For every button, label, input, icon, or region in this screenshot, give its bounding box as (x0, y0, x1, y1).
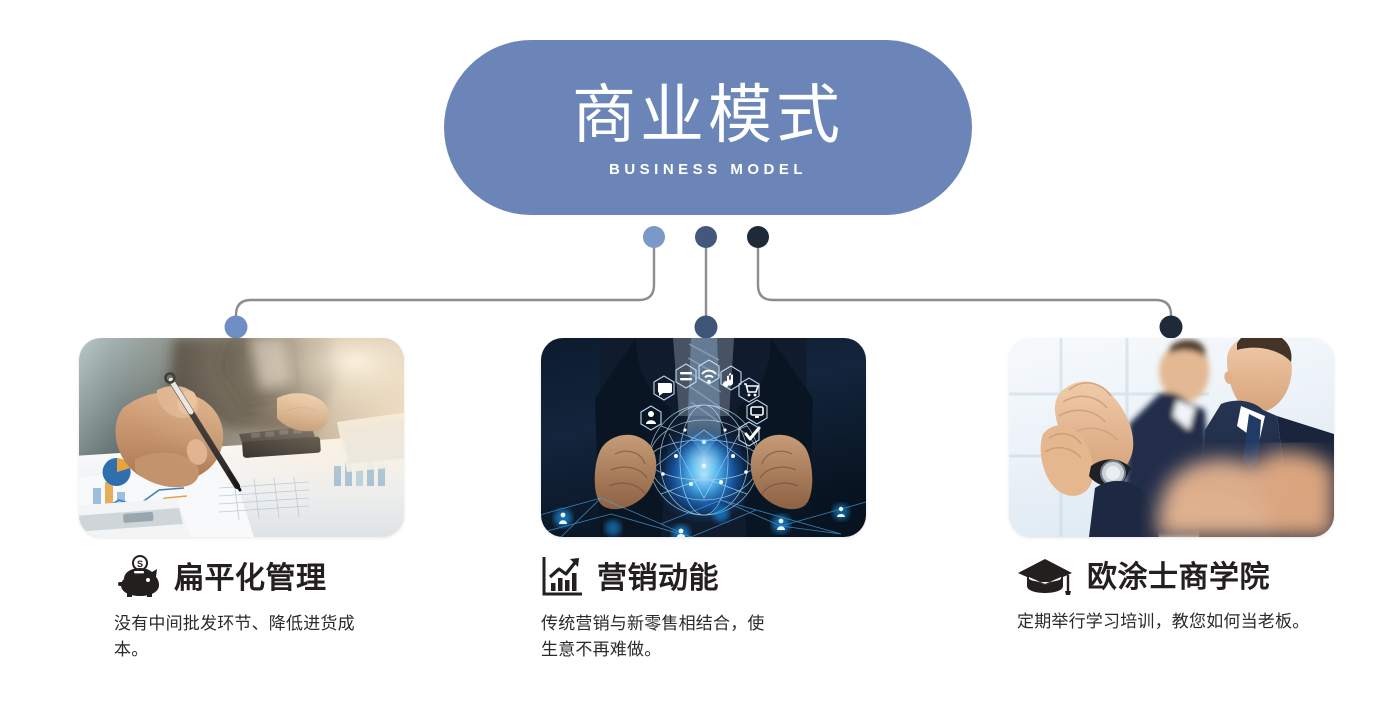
card-flat-management: S 扁平化管理 没有中间批发环节、降低进货成本。 (79, 338, 404, 662)
card-heading-row: 营销动能 (541, 555, 866, 602)
top-dot-right (747, 226, 769, 248)
graduation-cap-icon (1017, 555, 1075, 600)
connector-line-right (758, 243, 1171, 327)
bottom-dot-right (1160, 316, 1183, 339)
card-caption-flat-management: S 扁平化管理 没有中间批发环节、降低进货成本。 (79, 555, 404, 662)
infographic-canvas: 商业模式 BUSINESS MODEL (0, 0, 1400, 710)
card-body: 定期举行学习培训，教您如何当老板。 (1009, 609, 1357, 635)
card-image-oushi-business-school (1009, 338, 1334, 537)
connector-line-left (236, 243, 654, 327)
page-title: 商业模式 (572, 83, 844, 147)
svg-text:S: S (137, 559, 143, 569)
card-oushi-business-school: 欧涂士商学院 定期举行学习培训，教您如何当老板。 (1009, 338, 1334, 635)
bottom-dot-middle (695, 316, 718, 339)
bottom-dot-left (225, 316, 248, 339)
card-caption-marketing-momentum: 营销动能 传统营销与新零售相结合，使生意不再难做。 (541, 555, 866, 662)
photo-desk-finance (79, 338, 404, 537)
piggy-bank-icon: S (114, 555, 162, 602)
card-marketing-momentum: 营销动能 传统营销与新零售相结合，使生意不再难做。 (541, 338, 866, 662)
card-body: 没有中间批发环节、降低进货成本。 (79, 611, 376, 662)
card-caption-oushi-business-school: 欧涂士商学院 定期举行学习培训，教您如何当老板。 (1009, 555, 1334, 635)
card-title: 欧涂士商学院 (1087, 562, 1270, 594)
card-image-flat-management (79, 338, 404, 537)
card-image-marketing-momentum (541, 338, 866, 537)
card-body: 传统营销与新零售相结合，使生意不再难做。 (541, 611, 777, 662)
top-dot-left (643, 226, 665, 248)
top-dot-middle (695, 226, 717, 248)
card-title: 营销动能 (597, 563, 719, 595)
card-title: 扁平化管理 (174, 563, 327, 595)
photo-network-sphere (541, 338, 866, 537)
photo-applause (1009, 338, 1334, 537)
page-subtitle: BUSINESS MODEL (609, 161, 807, 178)
title-pill: 商业模式 BUSINESS MODEL (444, 40, 972, 215)
card-heading-row: S 扁平化管理 (79, 555, 404, 602)
growth-chart-icon (541, 555, 585, 602)
card-heading-row: 欧涂士商学院 (1009, 555, 1334, 600)
